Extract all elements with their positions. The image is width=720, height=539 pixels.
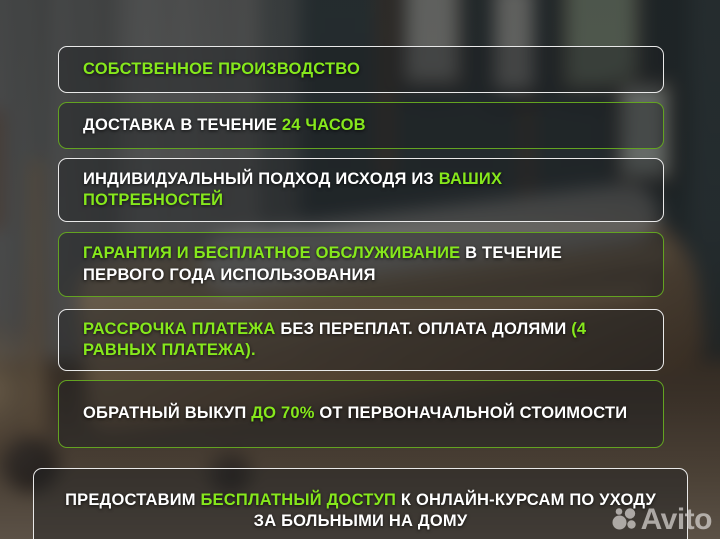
feature-installment-payment: РАССРОЧКА ПЛАТЕЖА БЕЗ ПЕРЕПЛАТ. ОПЛАТА Д… (58, 309, 664, 371)
feature-text: ГАРАНТИЯ И БЕСПЛАТНОЕ ОБСЛУЖИВАНИЕ В ТЕЧ… (59, 243, 663, 286)
feature-text: СОБСТВЕННОЕ ПРОИЗВОДСТВО (59, 59, 376, 80)
feature-free-online-courses: ПРЕДОСТАВИМ БЕСПЛАТНЫЙ ДОСТУП К ОНЛАЙН-К… (33, 468, 688, 539)
feature-individual-approach: ИНДИВИДУАЛЬНЫЙ ПОДХОД ИСХОДЯ ИЗ ВАШИХ ПО… (58, 158, 664, 222)
highlighted-text: 24 ЧАСОВ (282, 116, 366, 134)
highlighted-text: ГАРАНТИЯ И БЕСПЛАТНОЕ ОБСЛУЖИВАНИЕ (83, 244, 460, 262)
highlighted-text: БЕСПЛАТНЫЙ ДОСТУП (201, 491, 397, 509)
feature-text: ДОСТАВКА В ТЕЧЕНИЕ 24 ЧАСОВ (59, 115, 382, 136)
feature-text: ИНДИВИДУАЛЬНЫЙ ПОДХОД ИСХОДЯ ИЗ ВАШИХ ПО… (59, 169, 663, 212)
banner-image: СОБСТВЕННОЕ ПРОИЗВОДСТВО ДОСТАВКА В ТЕЧЕ… (0, 0, 720, 539)
plain-text: ДОСТАВКА В ТЕЧЕНИЕ (83, 116, 282, 134)
plain-text: БЕЗ ПЕРЕПЛАТ. ОПЛАТА ДОЛЯМИ (276, 320, 572, 338)
feature-delivery-24h: ДОСТАВКА В ТЕЧЕНИЕ 24 ЧАСОВ (58, 102, 664, 149)
feature-text: ПРЕДОСТАВИМ БЕСПЛАТНЫЙ ДОСТУП К ОНЛАЙН-К… (34, 490, 687, 532)
feature-warranty-free-service: ГАРАНТИЯ И БЕСПЛАТНОЕ ОБСЛУЖИВАНИЕ В ТЕЧ… (58, 232, 664, 297)
highlighted-text: РАССРОЧКА ПЛАТЕЖА (83, 320, 276, 338)
plain-text: ИНДИВИДУАЛЬНЫЙ ПОДХОД ИСХОДЯ ИЗ (83, 170, 439, 188)
feature-buyback: ОБРАТНЫЙ ВЫКУП ДО 70% ОТ ПЕРВОНАЧАЛЬНОЙ … (58, 380, 664, 448)
feature-own-production: СОБСТВЕННОЕ ПРОИЗВОДСТВО (58, 46, 664, 93)
plain-text: ОТ ПЕРВОНАЧАЛЬНОЙ СТОИМОСТИ (315, 404, 628, 422)
highlighted-text: ДО 70% (251, 404, 314, 422)
highlighted-text: СОБСТВЕННОЕ ПРОИЗВОДСТВО (83, 60, 360, 78)
feature-list: СОБСТВЕННОЕ ПРОИЗВОДСТВО ДОСТАВКА В ТЕЧЕ… (0, 0, 720, 539)
plain-text: ПРЕДОСТАВИМ (65, 491, 200, 509)
feature-text: ОБРАТНЫЙ ВЫКУП ДО 70% ОТ ПЕРВОНАЧАЛЬНОЙ … (59, 403, 643, 424)
plain-text: ОБРАТНЫЙ ВЫКУП (83, 404, 251, 422)
feature-text: РАССРОЧКА ПЛАТЕЖА БЕЗ ПЕРЕПЛАТ. ОПЛАТА Д… (59, 319, 663, 362)
